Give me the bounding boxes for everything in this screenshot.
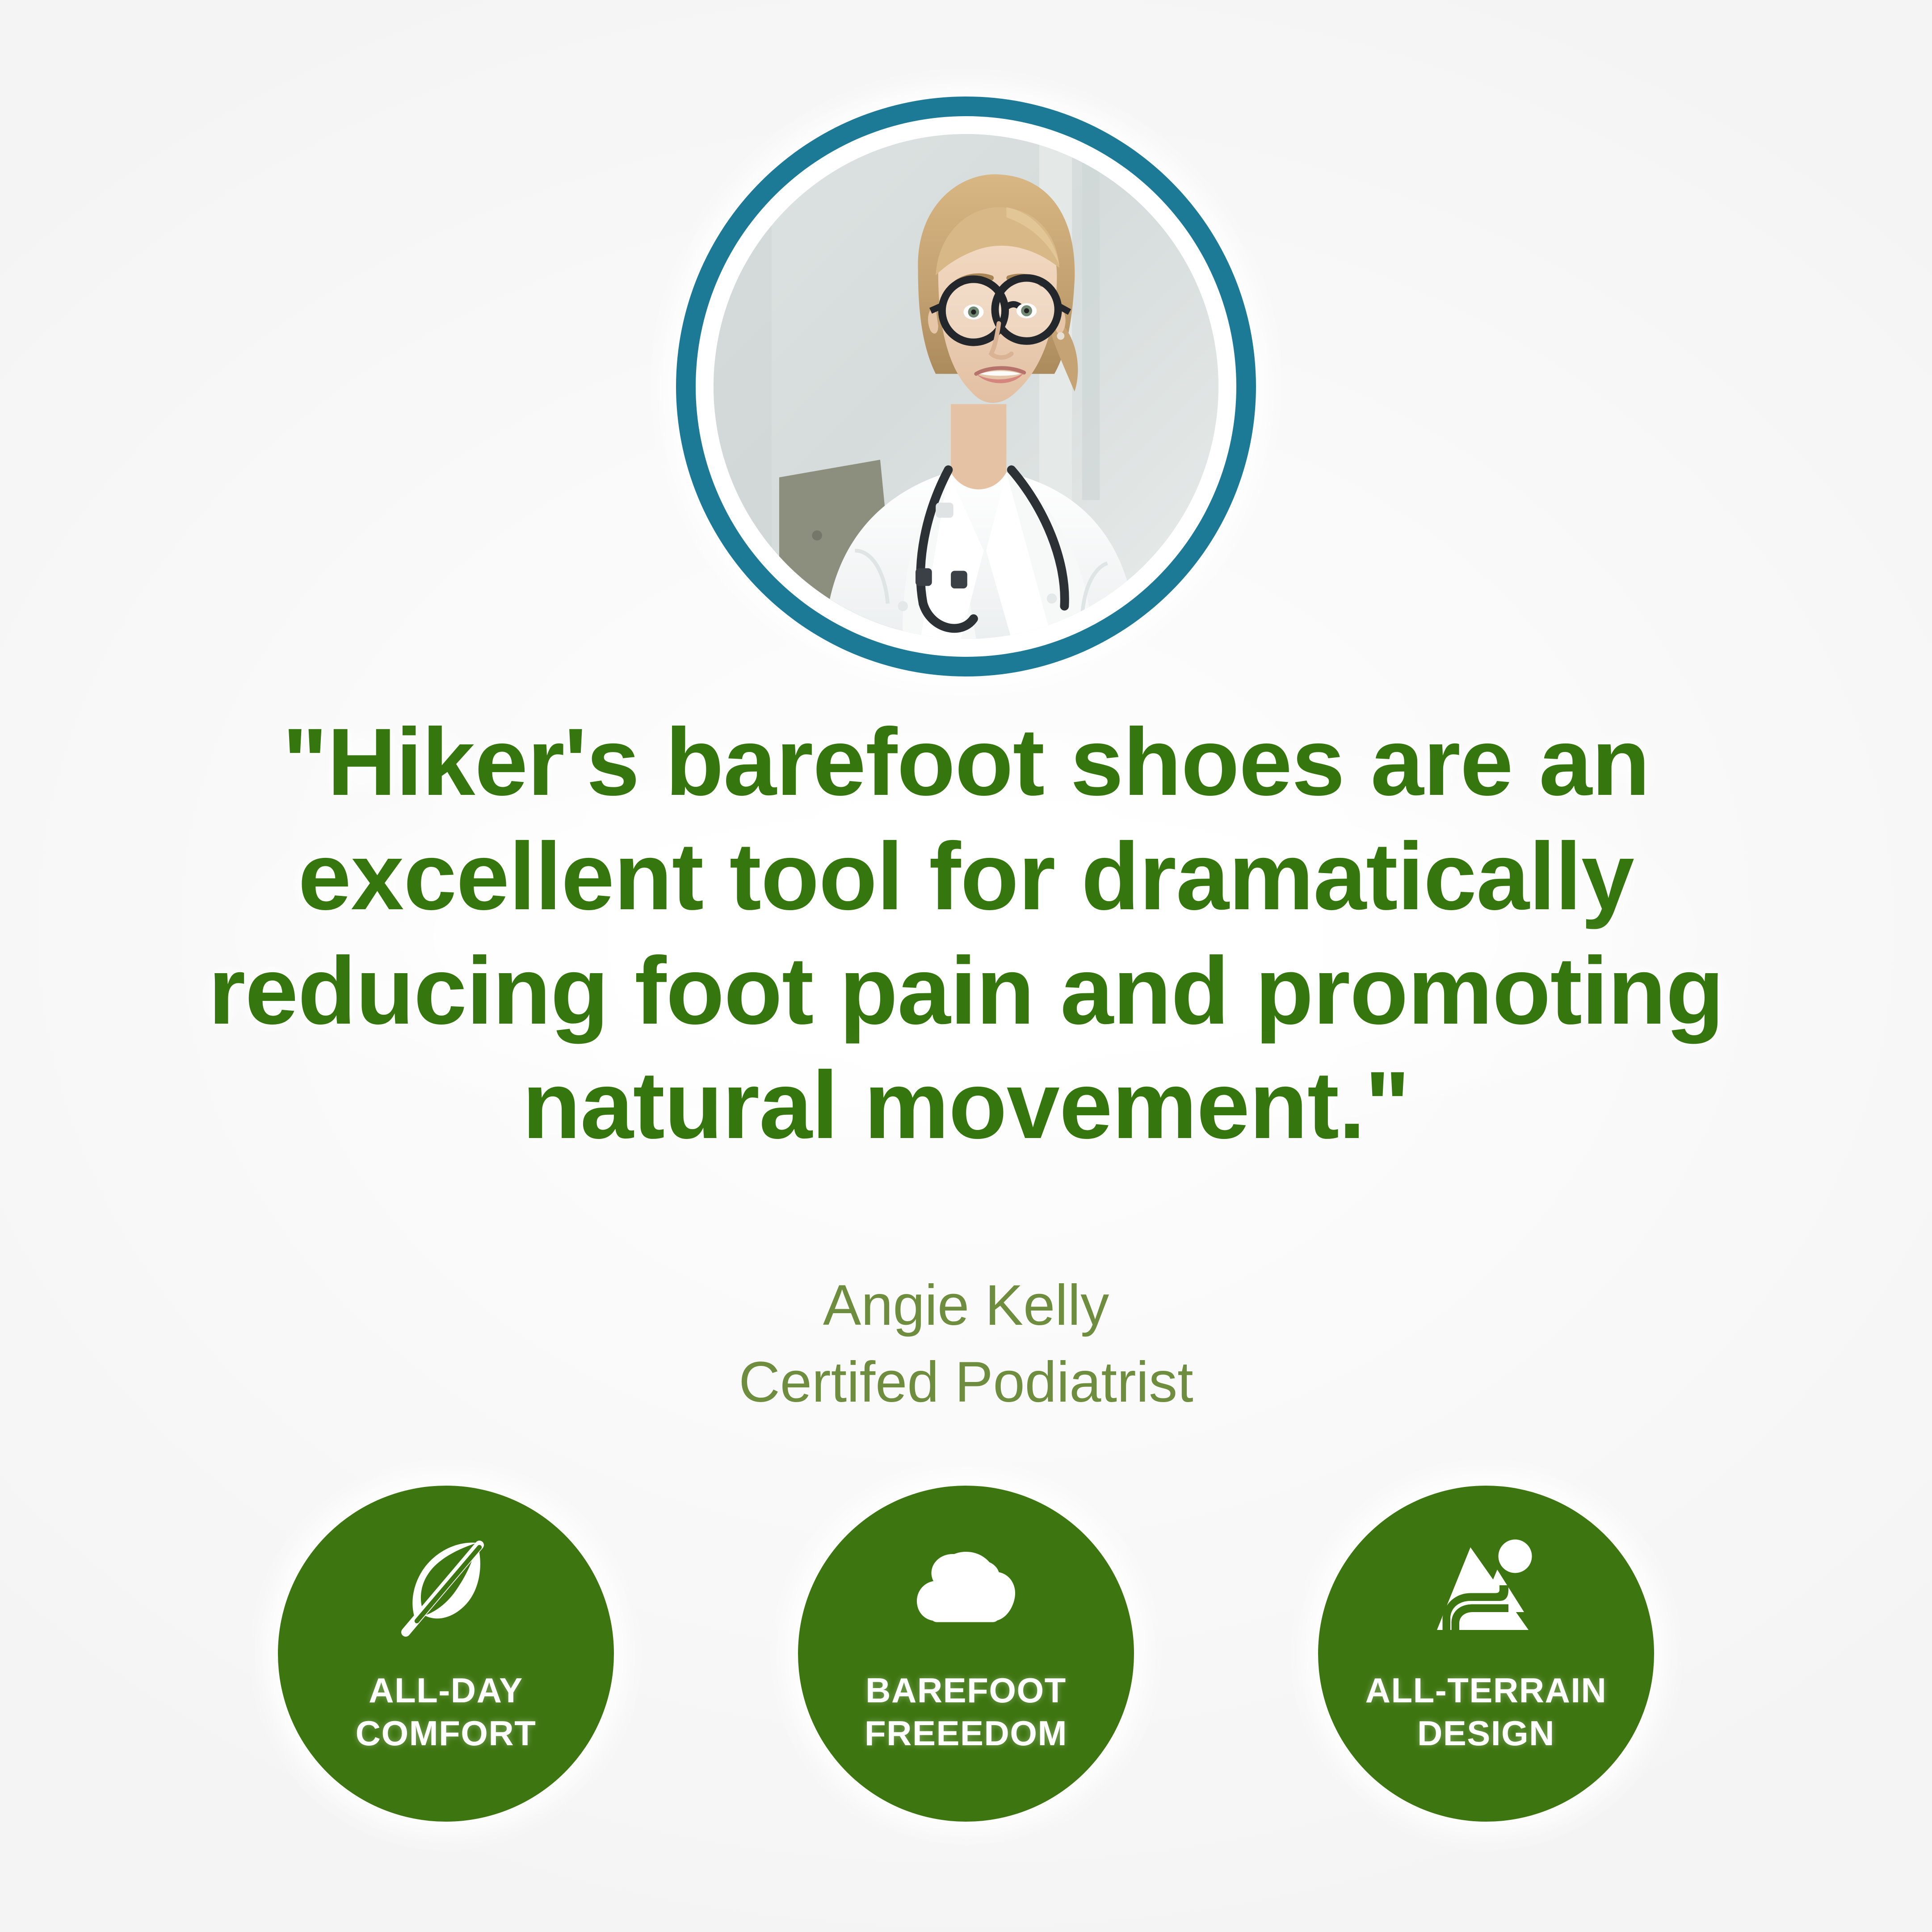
badge-label: BAREFOOT FREEEDOM xyxy=(865,1669,1067,1755)
badge-all-day-comfort[interactable]: ALL-DAY COMFORT xyxy=(278,1486,614,1822)
badge-label: ALL-DAY COMFORT xyxy=(356,1669,537,1755)
avatar xyxy=(676,97,1256,676)
badge-all-terrain-design[interactable]: ALL-TERRAIN DESIGN xyxy=(1318,1486,1654,1822)
mountain-sun-icon xyxy=(1430,1534,1542,1646)
feather-icon xyxy=(390,1534,502,1646)
quote-text: "Hiker's barefoot shoes are an excellent… xyxy=(117,705,1815,1163)
testimonial-card: "Hiker's barefoot shoes are an excellent… xyxy=(0,0,1932,1932)
badge-label: ALL-TERRAIN DESIGN xyxy=(1365,1669,1607,1755)
attribution-title: Certifed Podiatrist xyxy=(117,1344,1815,1421)
attribution-name: Angie Kelly xyxy=(117,1267,1815,1344)
doctor-portrait-photo xyxy=(714,134,1218,639)
badge-barefoot-freedom[interactable]: BAREFOOT FREEEDOM xyxy=(798,1486,1134,1822)
feature-badges: ALL-DAY COMFORT BAREFOOT FREEEDOM xyxy=(0,1486,1932,1897)
attribution: Angie Kelly Certifed Podiatrist xyxy=(117,1267,1815,1421)
cloud-icon xyxy=(910,1534,1022,1646)
